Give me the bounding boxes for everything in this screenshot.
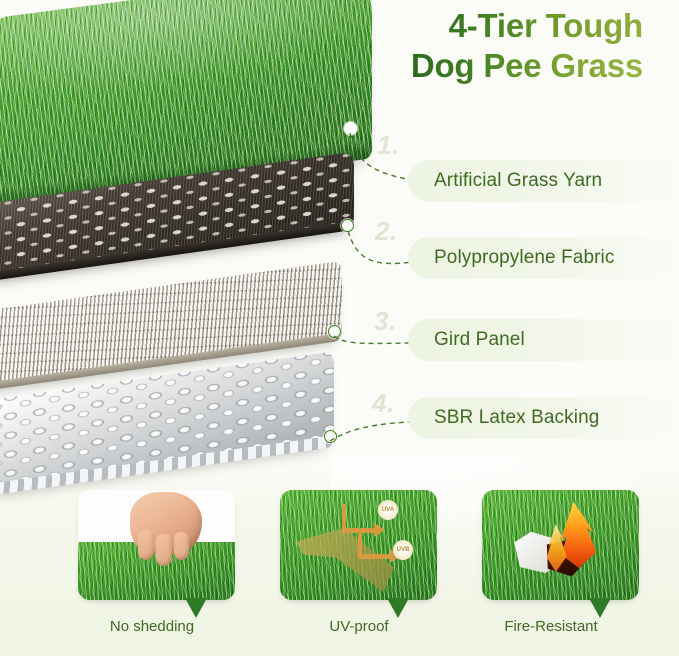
layer-label-artificial-grass-yarn[interactable]: Artificial Grass Yarn bbox=[408, 160, 679, 202]
thumb1-tail bbox=[185, 598, 207, 618]
layer-label-text-1: Artificial Grass Yarn bbox=[434, 170, 602, 192]
finger-2 bbox=[156, 534, 172, 566]
product-infographic: 4-Tier Tough Dog Pee Grass 1. 2. 3. 4. bbox=[0, 0, 679, 656]
feature-caption-fire-resistant: Fire-Resistant bbox=[451, 618, 651, 635]
layer-marker-sbr-latex-backing[interactable] bbox=[324, 430, 337, 443]
layer-label-gird-panel[interactable]: Gird Panel bbox=[408, 319, 679, 361]
layer-number-2: 2. bbox=[375, 216, 398, 247]
feature-caption-uv-proof: UV-proof bbox=[259, 618, 459, 635]
leader-line-4 bbox=[330, 422, 410, 441]
layer-label-text-2: Polypropylene Fabric bbox=[434, 247, 614, 269]
title-line-1: 4-Tier Tough bbox=[411, 6, 643, 46]
finger-1 bbox=[138, 530, 154, 560]
uva-badge: UVA bbox=[378, 500, 398, 520]
layer-marker-gird-panel[interactable] bbox=[328, 325, 341, 338]
title-line-2: Dog Pee Grass bbox=[411, 46, 643, 86]
layer-label-text-4: SBR Latex Backing bbox=[434, 407, 599, 429]
layer-label-sbr-latex-backing[interactable]: SBR Latex Backing bbox=[408, 397, 679, 439]
leader-line-3 bbox=[334, 336, 410, 343]
uv-arrow-head-1 bbox=[374, 523, 385, 537]
layer-number-3: 3. bbox=[374, 306, 397, 337]
feature-thumbnail-uv-proof[interactable]: UVA UVB bbox=[280, 490, 437, 600]
layer-marker-grass-yarn[interactable] bbox=[344, 122, 357, 135]
layer-label-polypropylene-fabric[interactable]: Polypropylene Fabric bbox=[408, 237, 679, 279]
thumb2-tail bbox=[387, 598, 409, 618]
uv-ray-horizontal-2 bbox=[358, 554, 392, 559]
feature-caption-no-shedding: No shedding bbox=[52, 618, 252, 635]
layer-marker-polypropylene-fabric[interactable] bbox=[341, 219, 354, 232]
finger-3 bbox=[174, 532, 189, 560]
feature-thumbnail-fire-resistant[interactable] bbox=[482, 490, 639, 600]
thumb3-tail bbox=[589, 598, 611, 618]
layer-label-text-3: Gird Panel bbox=[434, 329, 525, 351]
layer-number-1: 1. bbox=[377, 130, 400, 161]
uvb-badge: UVB bbox=[393, 540, 413, 560]
page-title: 4-Tier Tough Dog Pee Grass bbox=[411, 6, 643, 87]
feature-thumbnail-no-shedding[interactable] bbox=[78, 490, 235, 600]
layer-number-4: 4. bbox=[372, 388, 395, 419]
